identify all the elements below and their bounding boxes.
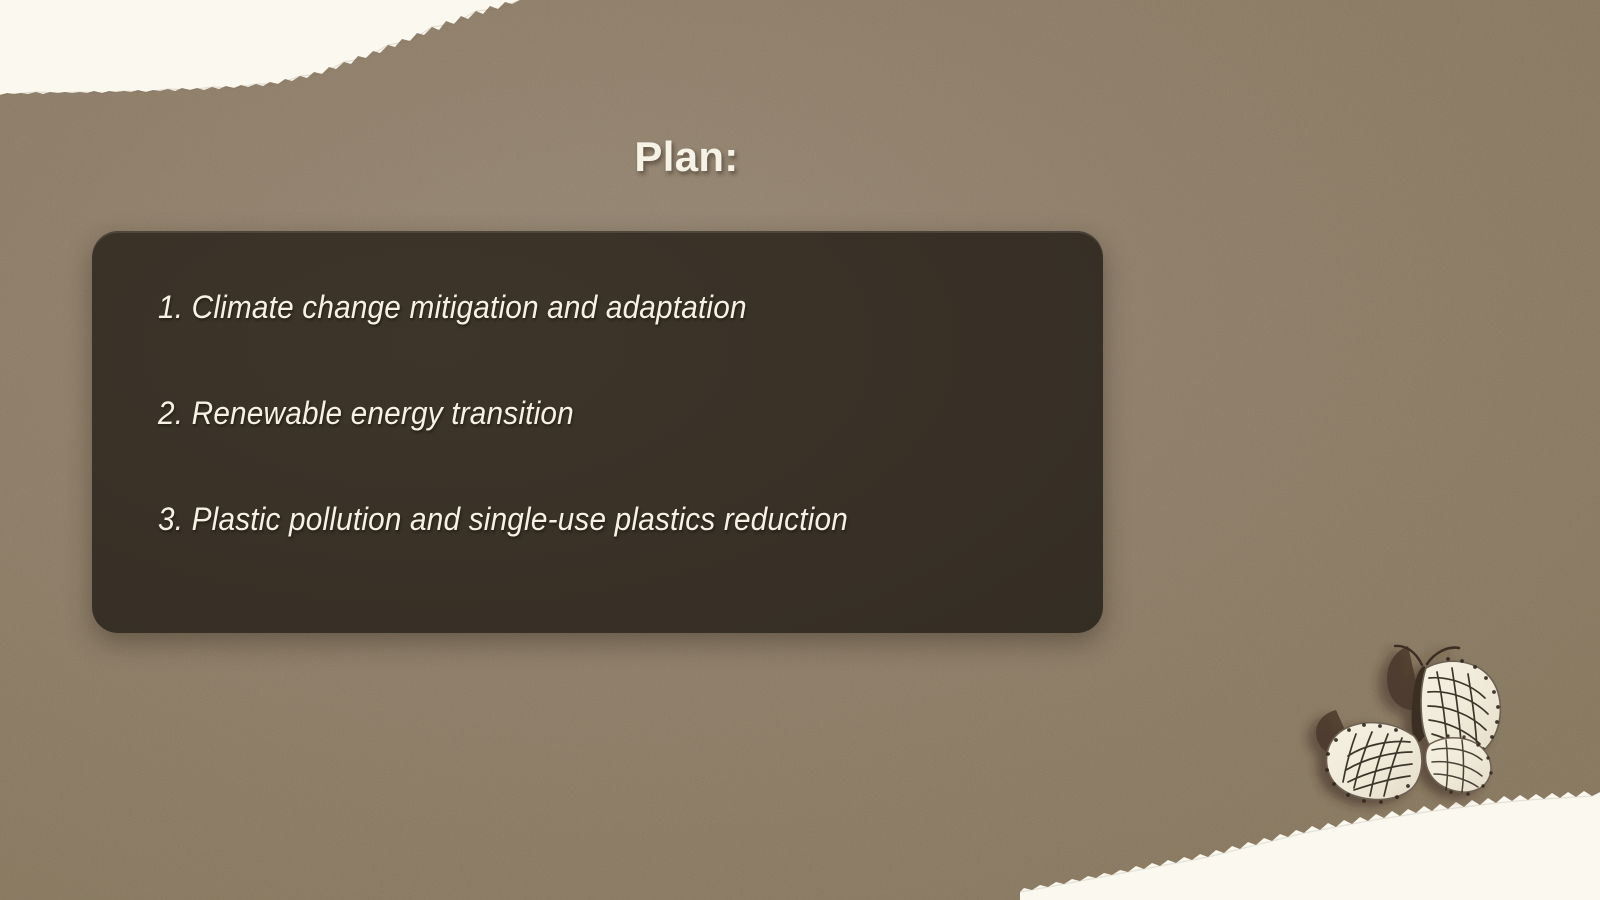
page-title: Plan: xyxy=(0,133,1373,181)
slide-canvas: Plan: 1. Climate change mitigation and a… xyxy=(0,0,1600,900)
plan-list-item-2: 2. Renewable energy transition xyxy=(158,393,1009,433)
plan-card: 1. Climate change mitigation and adaptat… xyxy=(92,231,1103,633)
plan-list: 1. Climate change mitigation and adaptat… xyxy=(158,287,1073,539)
butterfly-icon xyxy=(1296,618,1536,818)
plan-list-item-3: 3. Plastic pollution and single-use plas… xyxy=(158,499,1009,539)
plan-list-item-1: 1. Climate change mitigation and adaptat… xyxy=(158,287,1009,327)
